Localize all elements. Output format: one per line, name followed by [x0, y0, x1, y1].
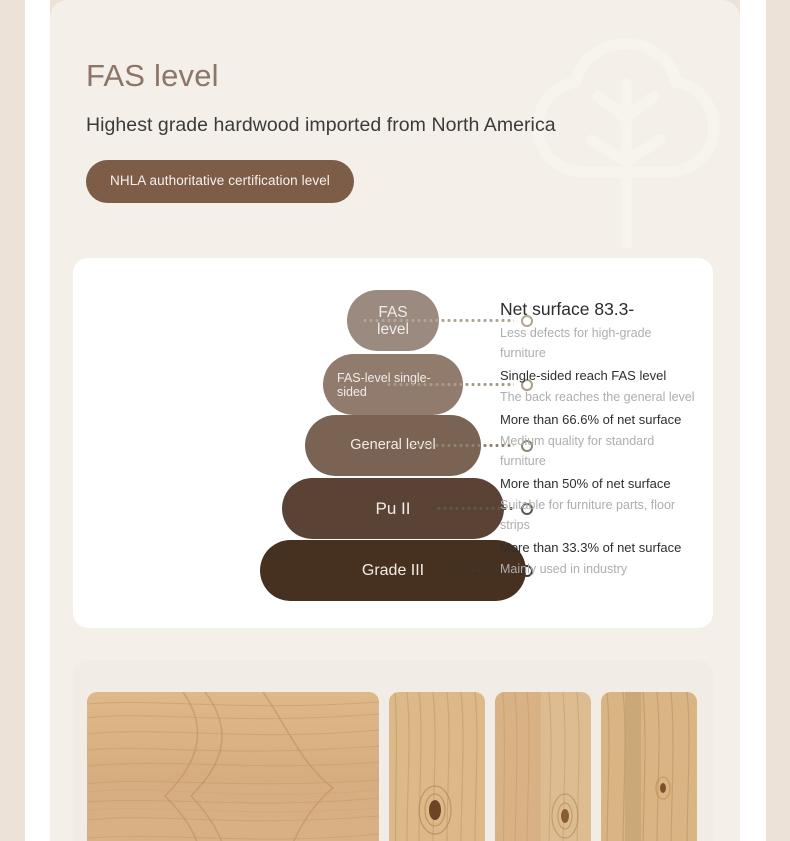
grade-subtext: The back reaches the general level	[500, 387, 700, 407]
grade-description: More than 50% of net surface Suitable fo…	[500, 472, 700, 535]
grade-description: Single-sided reach FAS level The back re…	[500, 364, 700, 407]
grade-headline: Single-sided reach FAS level	[500, 364, 700, 387]
page-title: FAS level	[86, 56, 556, 96]
grade-headline: More than 66.6% of net surface	[500, 408, 700, 431]
right-gutter	[740, 0, 766, 841]
grade-chart-card: FAS level FAS-level single-sided General…	[73, 258, 713, 628]
grade-headline: More than 33.3% of net surface	[500, 536, 700, 559]
grade-description: More than 33.3% of net surface Mainly us…	[500, 536, 700, 579]
grade-description: Net surface 83.3- Less defects for high-…	[500, 296, 700, 363]
wood-grain-icon	[87, 692, 379, 841]
wood-sample-knot-1	[389, 692, 485, 841]
wood-grain-icon	[495, 692, 591, 841]
wood-grain-icon	[601, 692, 697, 841]
grade-subtext: Mainly used in industry	[500, 559, 700, 579]
wood-gallery-card	[73, 660, 713, 841]
dotted-line	[386, 383, 514, 386]
wood-grain-icon	[389, 692, 485, 841]
header-block: FAS level Highest grade hardwood importe…	[86, 56, 556, 203]
wood-sample-large	[87, 692, 379, 841]
grade-description: More than 66.6% of net surface Medium qu…	[500, 408, 700, 471]
left-gutter	[25, 0, 50, 841]
product-detail-card: FAS level Highest grade hardwood importe…	[50, 0, 740, 841]
page-subtitle: Highest grade hardwood imported from Nor…	[86, 112, 556, 138]
grade-subtext: Less defects for high-grade furniture	[500, 323, 700, 363]
grade-descriptions: Net surface 83.3- Less defects for high-…	[500, 296, 700, 580]
certification-badge: NHLA authoritative certification level	[86, 160, 354, 203]
wood-gallery	[87, 692, 699, 841]
grade-subtext: Suitable for furniture parts, floor stri…	[500, 495, 700, 535]
wood-sample-plain	[495, 692, 591, 841]
grade-subtext: Medium quality for standard furniture	[500, 431, 700, 471]
grade-headline: Net surface 83.3-	[500, 296, 700, 323]
dotted-line	[362, 319, 514, 322]
grade-headline: More than 50% of net surface	[500, 472, 700, 495]
wood-sample-knot-2	[601, 692, 697, 841]
dotted-line	[410, 444, 514, 447]
